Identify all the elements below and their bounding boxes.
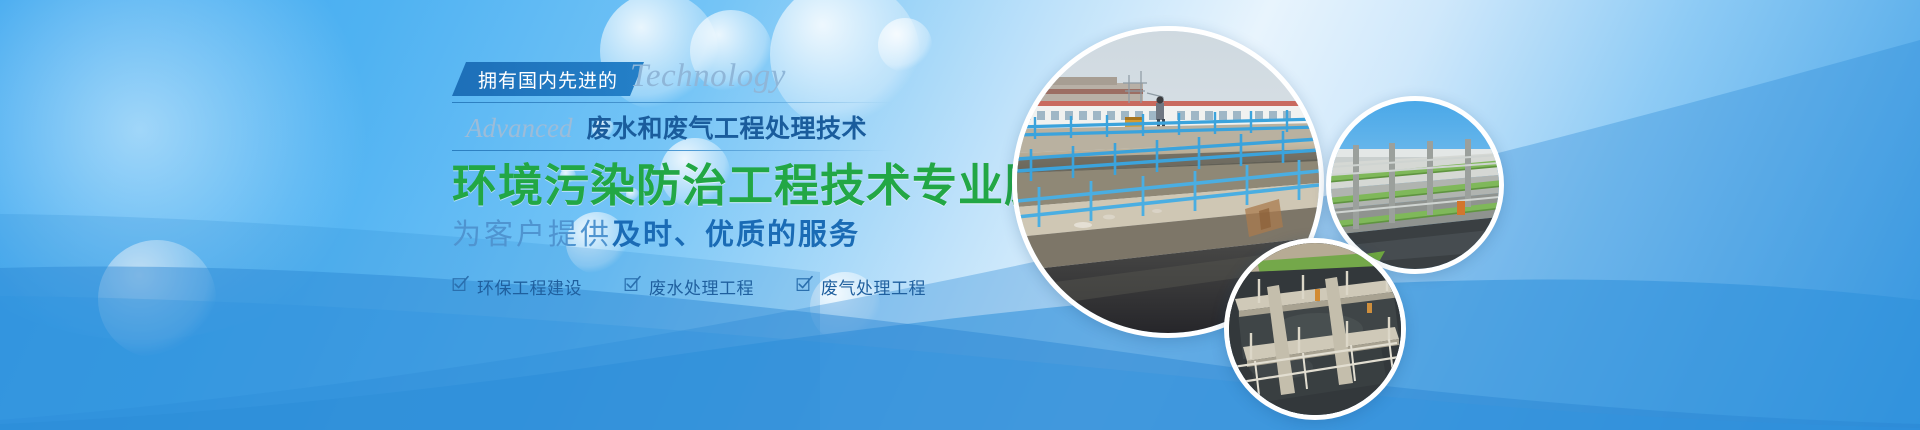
tagline-text: 拥有国内先进的 <box>478 66 618 93</box>
banner-copy: 拥有国内先进的 Technology Advanced 废水和废气工程处理技术 … <box>452 62 1052 299</box>
check-box-icon <box>452 275 469 297</box>
english-advanced-text: Advanced <box>466 113 572 144</box>
subheadline-row: 为客户提供及时、优质的服务 <box>452 220 1052 252</box>
background-glow <box>0 0 400 340</box>
headline-text: 环境污染防治工程技术专业顾问 <box>452 162 1052 210</box>
english-technology-text: Technology <box>630 58 786 95</box>
promo-banner: 拥有国内先进的 Technology Advanced 废水和废气工程处理技术 … <box>0 0 1920 430</box>
aeration-tank-walkway-photo <box>1224 238 1406 420</box>
feature-item-environmental-construction: 环保工程建设 <box>452 274 582 299</box>
divider-line-bottom <box>452 150 892 151</box>
subheadline-strong-text: 及时、优质的服务 <box>612 219 860 251</box>
tagline-row: 拥有国内先进的 Technology <box>452 62 1052 100</box>
subtitle-row: Advanced 废水和废气工程处理技术 <box>452 103 1052 150</box>
feature-label: 废水处理工程 <box>649 274 754 299</box>
feature-label: 环保工程建设 <box>477 274 582 299</box>
tagline-ribbon: 拥有国内先进的 <box>452 62 644 96</box>
bokeh-circle <box>98 240 216 358</box>
check-box-icon <box>796 275 813 297</box>
feature-item-wastewater-engineering: 废水处理工程 <box>624 274 754 299</box>
subtitle-chinese-text: 废水和废气工程处理技术 <box>586 109 867 145</box>
feature-list: 环保工程建设 废水处理工程 废气处理工程 <box>452 274 1052 299</box>
feature-label: 废气处理工程 <box>821 274 926 299</box>
feature-item-waste-gas-engineering: 废气处理工程 <box>796 274 926 299</box>
subheadline-light-text: 为客户提供 <box>452 219 612 251</box>
check-box-icon <box>624 275 641 297</box>
